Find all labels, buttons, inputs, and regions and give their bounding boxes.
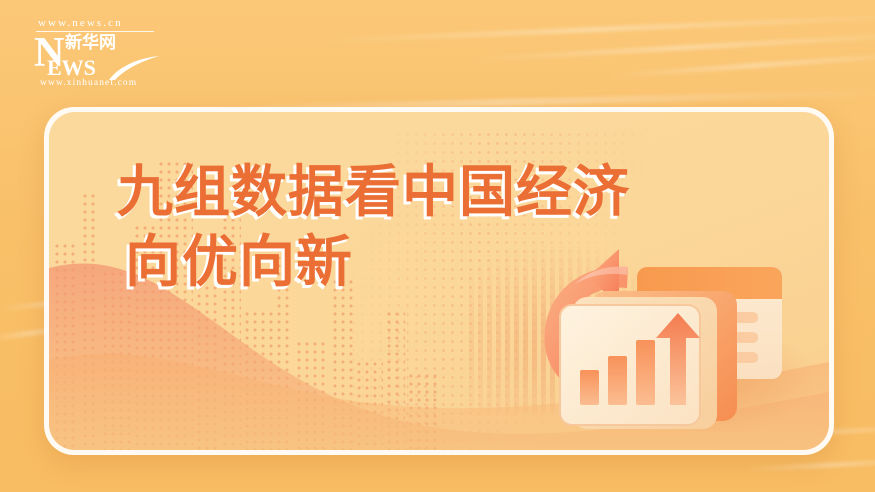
headline-line-1: 九组数据看中国经济 bbox=[117, 158, 630, 228]
chart-bar bbox=[608, 356, 627, 405]
front-chart-card bbox=[560, 305, 700, 425]
xinhuanet-logo[interactable]: www.news.cn N 新华网 EWS www.xinhuanet.com bbox=[34, 18, 160, 90]
card-inner: 九组数据看中国经济 向优向新 bbox=[49, 112, 829, 450]
graphic-canvas: www.news.cn N 新华网 EWS www.xinhuanet.com bbox=[0, 0, 875, 492]
chart-bar bbox=[636, 340, 655, 405]
chart-bar bbox=[580, 370, 599, 405]
logo-chinese-name: 新华网 bbox=[65, 34, 116, 52]
logo-top-url: www.news.cn bbox=[34, 18, 160, 29]
logo-mark: N 新华网 EWS bbox=[34, 33, 160, 79]
logo-word-news: EWS bbox=[47, 57, 96, 79]
growth-chart-illustration bbox=[515, 239, 815, 450]
main-card: 九组数据看中国经济 向优向新 bbox=[44, 107, 834, 455]
swoosh-icon bbox=[108, 55, 160, 81]
